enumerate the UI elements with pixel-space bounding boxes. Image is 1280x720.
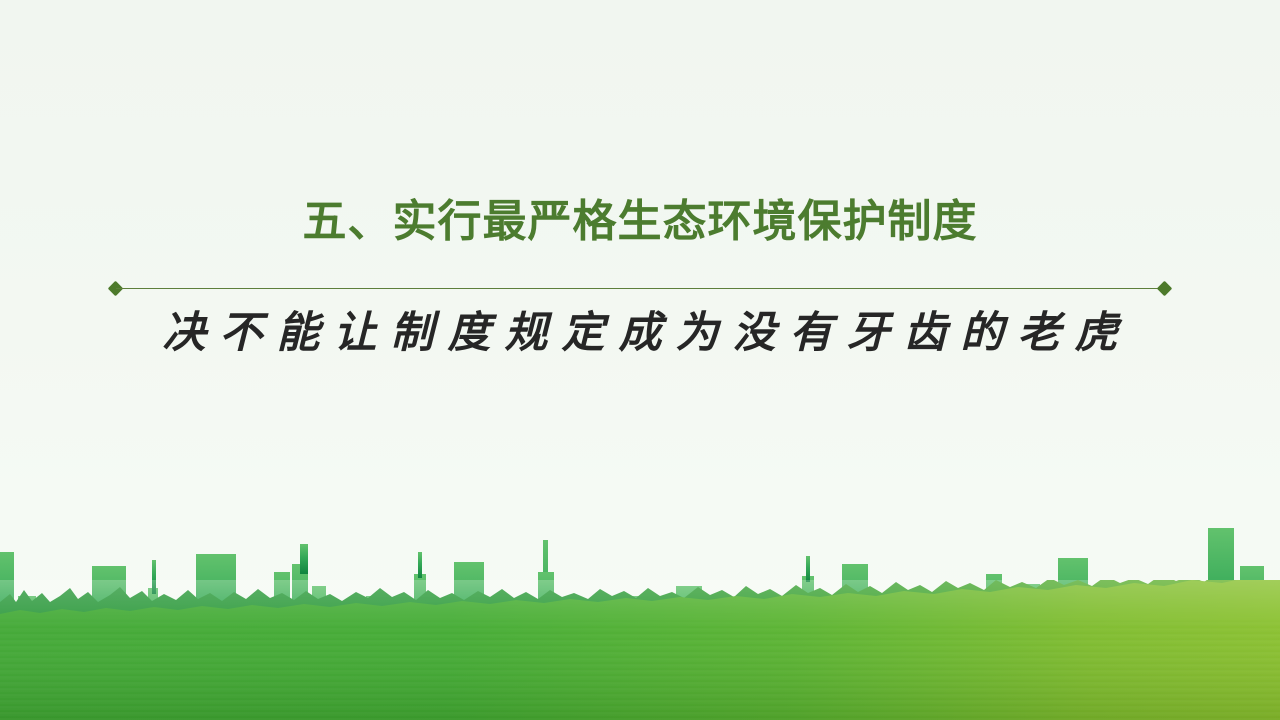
page-title: 五、实行最严格生态环境保护制度	[0, 196, 1280, 248]
title-divider	[110, 283, 1170, 295]
grass-field-illustration	[0, 580, 1280, 720]
page-subtitle: 决不能让制度规定成为没有牙齿的老虎	[0, 308, 1280, 360]
divider-diamond-right-icon	[1157, 281, 1173, 297]
presentation-slide: 五、实行最严格生态环境保护制度 决不能让制度规定成为没有牙齿的老虎	[0, 0, 1280, 720]
grass-shading	[0, 580, 1280, 720]
title-block: 五、实行最严格生态环境保护制度	[0, 196, 1280, 248]
subtitle-block: 决不能让制度规定成为没有牙齿的老虎	[0, 308, 1280, 360]
divider-line	[116, 288, 1164, 289]
